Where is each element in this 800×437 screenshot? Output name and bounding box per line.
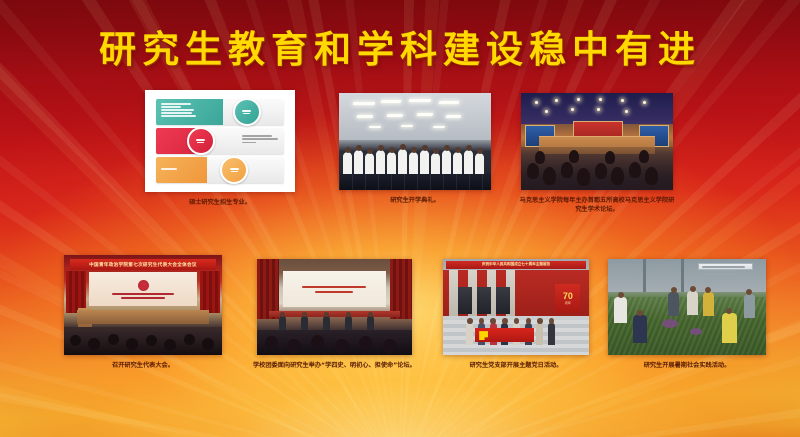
- cell-summer-practice: 研究生开展暑期社会实践活动。: [608, 259, 766, 370]
- poster-canvas: 研究生教育和学科建设稳中有进: [0, 0, 800, 437]
- student-worker: [668, 292, 679, 316]
- photo-four-histories-forum: [257, 259, 412, 355]
- caption-grad-majors-slide: 硕士研究生招生专业。: [189, 198, 251, 207]
- panelist: [323, 316, 330, 330]
- exhibition-banner-text: 庆祝中华人民共和国成立七十周年主题展览: [482, 262, 550, 267]
- curtain-right: [200, 271, 221, 313]
- photo-opening-ceremony: [339, 93, 491, 190]
- party-flag: [475, 328, 533, 341]
- congress-banner-text: 中国青年政治学院第七次研究生代表大会全体会议: [89, 262, 197, 268]
- slide-content: [156, 99, 284, 183]
- panelist: [301, 316, 308, 330]
- anniversary-badge: 70 周年: [555, 284, 580, 313]
- cell-party-branch-activity: 庆祝中华人民共和国成立七十周年主题展览 70 周年: [443, 259, 589, 370]
- student-worker: [722, 313, 737, 343]
- panelist: [279, 316, 286, 330]
- caption-four-histories-forum: 学校团委面向研究生举办“学四史、明初心、担使命”论坛。: [253, 361, 416, 370]
- red-bar-badge: [187, 127, 215, 155]
- student-crowd: [339, 143, 491, 174]
- caption-marxism-forum: 马克思主义学院每年主办首都五所高校马克思主义学院研究生学术论坛。: [517, 196, 677, 214]
- student-worker: [633, 315, 647, 343]
- student-worker: [744, 294, 755, 318]
- cell-grad-majors-slide: 硕士研究生招生专业。: [145, 90, 295, 207]
- cell-student-congress: 中国青年政治学院第七次研究生代表大会全体会议: [64, 255, 222, 370]
- congress-banner: 中国青年政治学院第七次研究生代表大会全体会议: [70, 259, 215, 270]
- caption-opening-ceremony: 研究生开学典礼。: [390, 196, 440, 205]
- cell-four-histories-forum: 学校团委面向研究生举办“学四史、明初心、担使命”论坛。: [253, 259, 416, 370]
- panelist: [367, 316, 374, 330]
- congress-audience: [64, 327, 222, 355]
- forum-stage-front: [269, 311, 399, 317]
- student-worker: [687, 291, 698, 315]
- curtain-left: [66, 271, 87, 313]
- student-worker: [614, 297, 627, 323]
- presidium-table: [77, 310, 210, 324]
- cell-marxism-forum: 马克思主义学院每年主办首都五所高校马克思主义学院研究生学术论坛。: [517, 93, 677, 214]
- anniversary-number: 70: [563, 292, 573, 301]
- forum-audience-front: [257, 330, 412, 355]
- photo-student-congress: 中国青年政治学院第七次研究生代表大会全体会议: [64, 255, 222, 355]
- emblem-icon: [138, 280, 149, 291]
- forum-projection-screen: [283, 271, 385, 307]
- seating-rows: [339, 174, 491, 190]
- stage-curtain-left: [257, 259, 279, 319]
- visitor: [548, 323, 555, 345]
- slide-bar-teal: [156, 99, 284, 125]
- anniversary-sub: 周年: [565, 301, 571, 305]
- photo-grad-majors-slide: [145, 90, 295, 192]
- exhibition-banner: 庆祝中华人民共和国成立七十周年主题展览: [446, 261, 586, 269]
- orange-bar-badge: [220, 156, 248, 184]
- caption-student-congress: 召开研究生代表大会。: [112, 361, 174, 370]
- stage-curtain-right: [390, 259, 412, 319]
- red-bar-lines: [242, 135, 278, 143]
- photo-party-branch-activity: 庆祝中华人民共和国成立七十周年主题展览 70 周年: [443, 259, 589, 355]
- forum-audience: [521, 147, 673, 190]
- orange-bar-lines: [161, 168, 177, 170]
- caption-summer-practice: 研究生开展暑期社会实践活动。: [644, 361, 731, 370]
- visitor: [536, 323, 543, 345]
- teal-bar-lines: [161, 103, 196, 117]
- caption-party-branch-activity: 研究生党支部开展主题党日活动。: [470, 361, 563, 370]
- greenhouse-structure: [608, 259, 766, 292]
- info-board: [698, 263, 754, 270]
- panelist: [345, 316, 352, 330]
- visitor: [466, 323, 473, 345]
- photo-summer-practice: [608, 259, 766, 355]
- teal-bar-badge: [233, 98, 261, 126]
- photo-marxism-forum: [521, 93, 673, 190]
- student-worker: [703, 292, 714, 316]
- slide-bar-red: [156, 128, 284, 154]
- slide-bar-orange: [156, 157, 284, 183]
- congress-screen: [89, 272, 196, 306]
- cell-opening-ceremony: 研究生开学典礼。: [339, 93, 491, 205]
- page-title: 研究生教育和学科建设稳中有进: [0, 28, 800, 72]
